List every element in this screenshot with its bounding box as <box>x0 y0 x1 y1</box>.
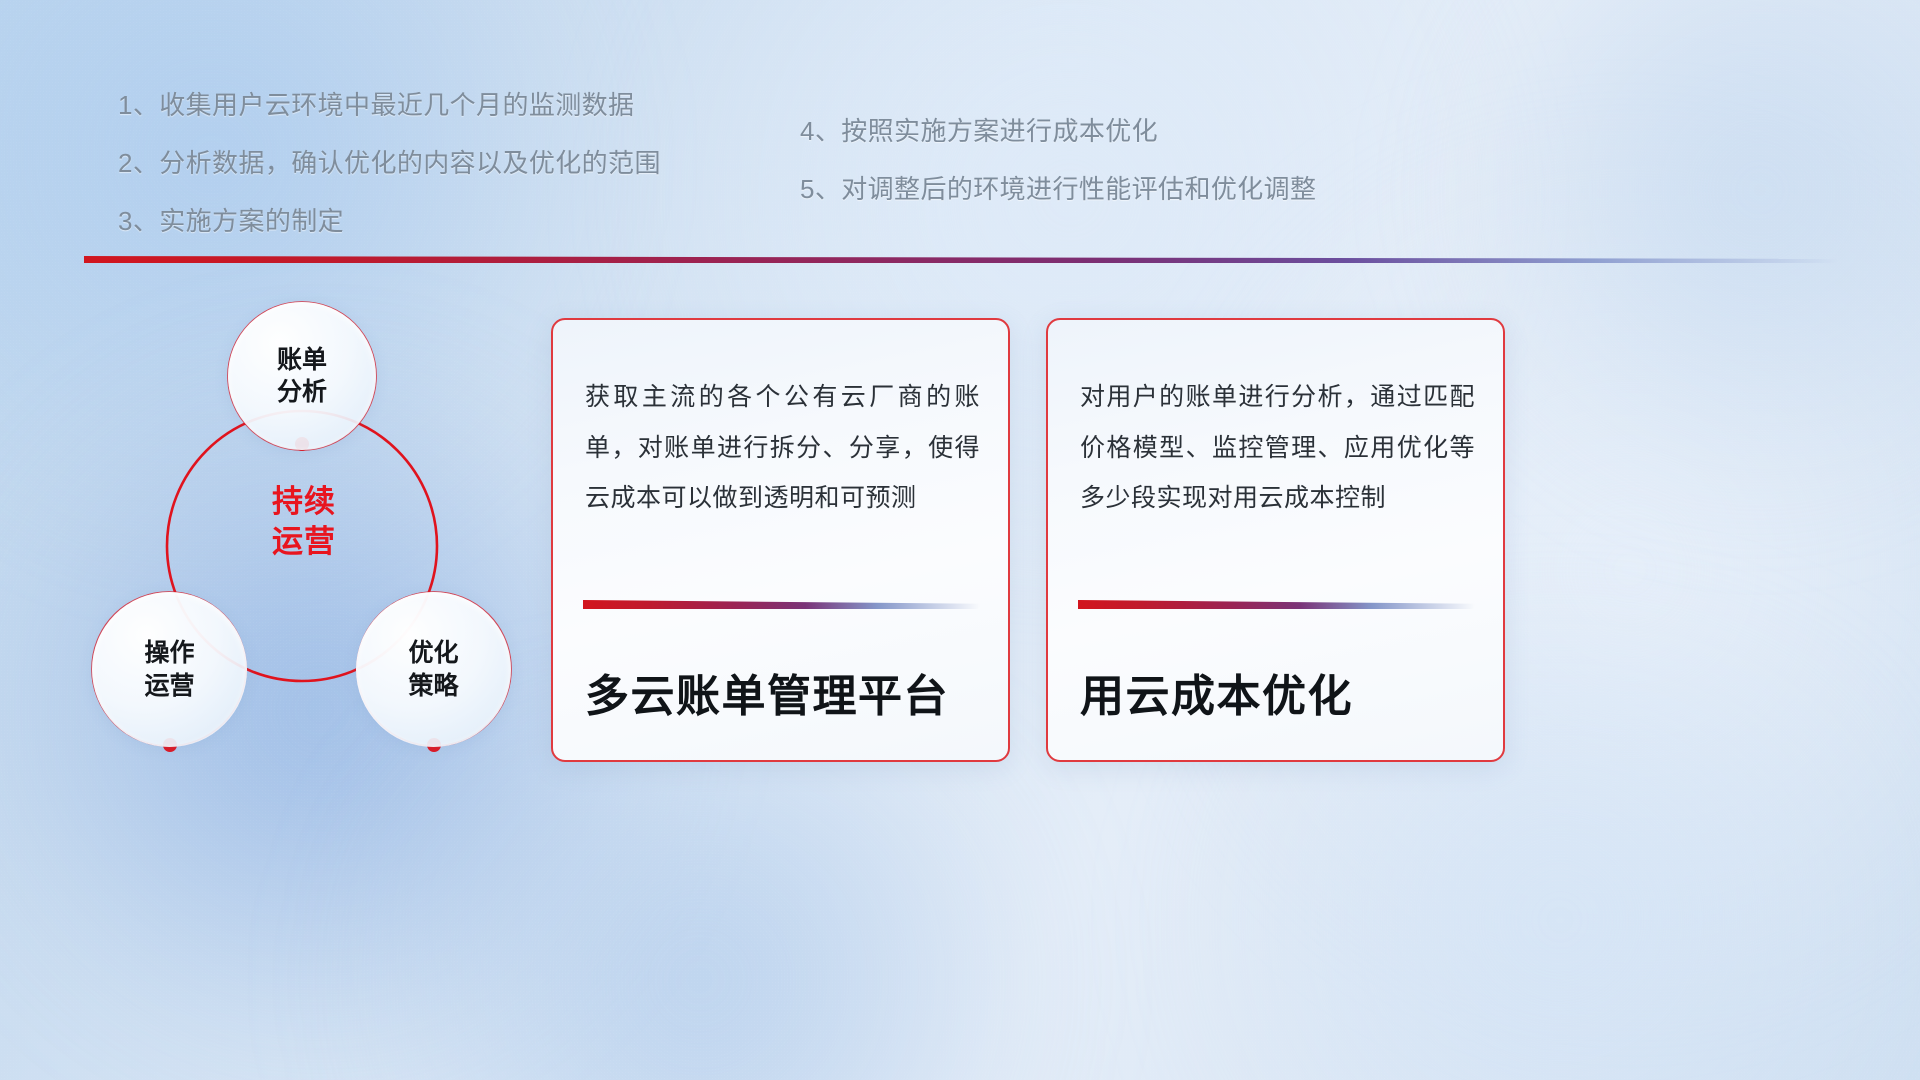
step-item-4: 4、按照实施方案进行成本优化 <box>800 118 1316 144</box>
continuous-operations-diagram: 账单分析 操作运营 优化策略 持续 运营 <box>84 292 554 762</box>
center-label-line1: 持续 <box>229 482 379 522</box>
card-divider-rule <box>1078 600 1475 609</box>
feature-card-multi-cloud-billing[interactable]: 获取主流的各个公有云厂商的账单，对账单进行拆分、分享，使得云成本可以做到透明和可… <box>551 318 1010 762</box>
card-divider-rule <box>583 600 980 609</box>
step-item-5: 5、对调整后的环境进行性能评估和优化调整 <box>800 176 1316 202</box>
step-item-1: 1、收集用户云环境中最近几个月的监测数据 <box>118 92 661 118</box>
card-body-text: 对用户的账单进行分析，通过匹配价格模型、监控管理、应用优化等多少段实现对用云成本… <box>1080 372 1475 524</box>
diagram-bubble-operations[interactable]: 操作运营 <box>92 592 247 747</box>
card-title: 用云成本优化 <box>1080 660 1477 724</box>
steps-column-left: 1、收集用户云环境中最近几个月的监测数据 2、分析数据，确认优化的内容以及优化的… <box>118 92 661 234</box>
card-title: 多云账单管理平台 <box>585 660 982 724</box>
diagram-center-label: 持续 运营 <box>229 482 379 561</box>
step-item-2: 2、分析数据，确认优化的内容以及优化的范围 <box>118 150 661 176</box>
diagram-bubble-optimization-strategy[interactable]: 优化策略 <box>356 592 511 747</box>
slide-canvas: 1、收集用户云环境中最近几个月的监测数据 2、分析数据，确认优化的内容以及优化的… <box>0 0 1920 1080</box>
step-item-3: 3、实施方案的制定 <box>118 208 661 234</box>
feature-card-cloud-cost-optimization[interactable]: 对用户的账单进行分析，通过匹配价格模型、监控管理、应用优化等多少段实现对用云成本… <box>1046 318 1505 762</box>
bubble-label: 操作运营 <box>144 637 194 702</box>
diagram-bubble-bill-analysis[interactable]: 账单分析 <box>228 302 376 450</box>
bubble-label: 账单分析 <box>277 344 327 409</box>
bubble-label: 优化策略 <box>408 637 458 702</box>
steps-column-right: 4、按照实施方案进行成本优化 5、对调整后的环境进行性能评估和优化调整 <box>800 118 1316 202</box>
card-body-text: 获取主流的各个公有云厂商的账单，对账单进行拆分、分享，使得云成本可以做到透明和可… <box>585 372 980 524</box>
center-label-line2: 运营 <box>229 522 379 562</box>
